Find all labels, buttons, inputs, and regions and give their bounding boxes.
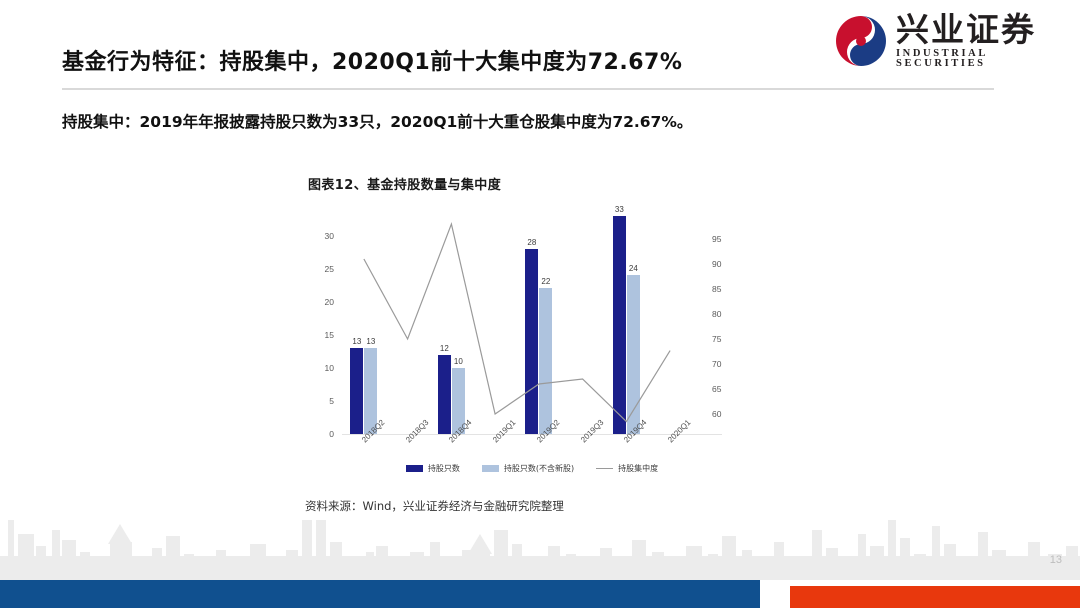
footer-bar-red xyxy=(790,586,1080,608)
page-title-text: 基金行为特征：持股集中，2020Q1前十大集中度为72.67% xyxy=(62,44,992,76)
legend-label: 持股只数(不含新股) xyxy=(504,463,574,474)
chart-caption: 图表12、基金持股数量与集中度 xyxy=(308,174,501,193)
y-axis-tick-right: 90 xyxy=(712,259,738,269)
legend-item[interactable]: 持股只数 xyxy=(406,463,460,474)
title-divider xyxy=(62,88,994,90)
logo-name-cn: 兴业证券 xyxy=(896,13,1064,46)
legend-label: 持股集中度 xyxy=(618,463,658,474)
chart-line-series xyxy=(364,224,670,422)
y-axis-tick-left: 15 xyxy=(304,330,334,340)
y-axis-tick-right: 85 xyxy=(712,284,738,294)
chart-legend: 持股只数持股只数(不含新股)持股集中度 xyxy=(342,463,722,474)
y-axis-tick-left: 30 xyxy=(304,231,334,241)
chart-baseline xyxy=(342,434,722,435)
footer-bar-blue xyxy=(0,580,760,608)
y-axis-tick-left: 20 xyxy=(304,297,334,307)
chart-bar-value-label: 33 xyxy=(615,205,624,214)
y-axis-tick-right: 65 xyxy=(712,384,738,394)
page-title: 基金行为特征：持股集中，2020Q1前十大集中度为72.67% xyxy=(62,44,992,76)
y-axis-tick-right: 70 xyxy=(712,359,738,369)
subtitle-text: 持股集中：2019年年报披露持股只数为33只，2020Q1前十大重仓股集中度为7… xyxy=(62,110,992,132)
chart-line-layer xyxy=(342,219,692,434)
legend-color-swatch xyxy=(482,465,499,472)
page-number: 13 xyxy=(1050,554,1062,566)
legend-label: 持股只数 xyxy=(428,463,460,474)
y-axis-tick-right: 95 xyxy=(712,234,738,244)
footer-bar xyxy=(0,580,1080,608)
legend-line-swatch xyxy=(596,468,613,469)
y-axis-tick-right: 80 xyxy=(712,309,738,319)
legend-item[interactable]: 持股集中度 xyxy=(596,463,658,474)
y-axis-tick-left: 0 xyxy=(304,429,334,439)
chart-x-axis: 2018Q22018Q32018Q42019Q12019Q22019Q32019… xyxy=(342,438,692,482)
y-axis-tick-left: 10 xyxy=(304,363,334,373)
legend-item[interactable]: 持股只数(不含新股) xyxy=(482,463,574,474)
slide-root: 兴业证券 INDUSTRIAL SECURITIES 基金行为特征：持股集中，2… xyxy=(0,0,1080,608)
y-axis-tick-left: 5 xyxy=(304,396,334,406)
skyline-decoration xyxy=(0,512,1080,580)
y-axis-tick-left: 25 xyxy=(304,264,334,274)
chart-plot-area: 051015202530 1313121028223324 xyxy=(342,219,692,434)
chart-container: 051015202530 1313121028223324 6065707580… xyxy=(300,205,760,505)
y-axis-tick-right: 75 xyxy=(712,334,738,344)
y-axis-tick-right: 60 xyxy=(712,409,738,419)
legend-color-swatch xyxy=(406,465,423,472)
